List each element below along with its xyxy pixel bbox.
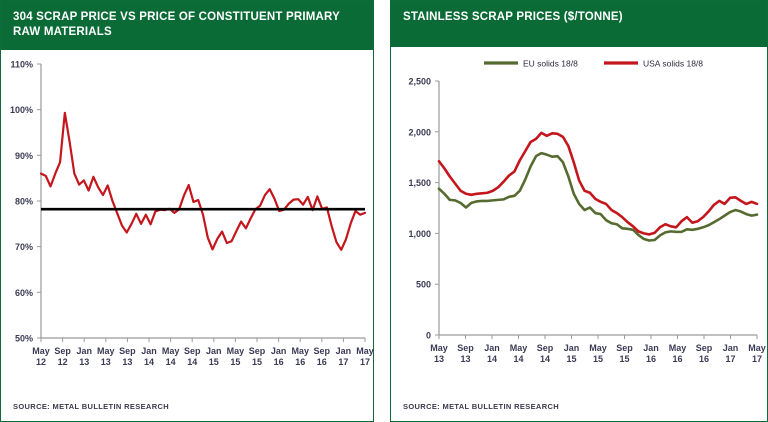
x-axis-tick-label-year: 17 xyxy=(360,357,370,367)
x-axis-tick-label-year: 14 xyxy=(513,354,523,364)
y-axis-tick-label: 2,000 xyxy=(408,127,431,137)
x-axis-tick-label-year: 15 xyxy=(619,354,629,364)
x-axis-tick-label-month: May xyxy=(589,343,607,353)
x-axis-tick-label-month: Sep xyxy=(184,346,201,356)
x-axis-tick-label-year: 17 xyxy=(725,354,735,364)
x-axis-tick-label-year: 13 xyxy=(122,357,132,367)
x-axis-tick-label-month: Jan xyxy=(76,346,92,356)
y-axis-tick-label: 1,500 xyxy=(408,178,431,188)
series-line-eu-solids-18-8 xyxy=(439,153,757,240)
x-axis-tick-label-month: Jan xyxy=(141,346,157,356)
x-axis-tick-label-year: 15 xyxy=(252,357,262,367)
chart-scrap-price-ratio: 50%60%70%80%90%100%110%May12Sep12Jan13Ma… xyxy=(1,50,373,390)
x-axis-tick-label-year: 16 xyxy=(274,357,284,367)
x-axis-tick-label-year: 14 xyxy=(540,354,550,364)
y-axis-tick-label: 90% xyxy=(15,151,33,161)
x-axis-tick-label-month: Sep xyxy=(249,346,266,356)
y-axis-tick-label: 70% xyxy=(15,242,33,252)
source-note-left: SOURCE: METAL BULLETIN RESEARCH xyxy=(1,402,373,421)
x-axis-tick-label-month: Jan xyxy=(643,343,659,353)
source-note-right: SOURCE: METAL BULLETIN RESEARCH xyxy=(391,402,767,421)
x-axis-tick-label-year: 16 xyxy=(672,354,682,364)
x-axis-tick-label-year: 13 xyxy=(79,357,89,367)
x-axis-tick-label-year: 13 xyxy=(434,354,444,364)
y-axis-tick-label: 80% xyxy=(15,197,33,207)
x-axis-tick-label-month: Sep xyxy=(696,343,713,353)
y-axis-tick-label: 2,500 xyxy=(408,77,431,87)
x-axis-tick-label-month: Jan xyxy=(206,346,222,356)
x-axis-tick-label-year: 16 xyxy=(317,357,327,367)
y-axis-tick-label: 50% xyxy=(15,334,33,344)
x-axis-tick-label-year: 13 xyxy=(460,354,470,364)
series-line-304-scrap-price-as-of-constituent-primary-raw-materials xyxy=(41,113,365,250)
x-axis-tick-label-year: 17 xyxy=(338,357,348,367)
x-axis-tick-label-year: 15 xyxy=(209,357,219,367)
x-axis-tick-label-month: May xyxy=(748,343,766,353)
plot-area-scrap-price-ratio: 50%60%70%80%90%100%110%May12Sep12Jan13Ma… xyxy=(1,50,373,402)
y-axis-tick-label: 0 xyxy=(426,331,431,341)
x-axis-tick-label-year: 15 xyxy=(230,357,240,367)
x-axis-tick-label-month: May xyxy=(291,346,309,356)
panel-title-stainless-scrap-prices: STAINLESS SCRAP PRICES ($/TONNE) xyxy=(391,1,767,47)
x-axis-tick-label-month: Sep xyxy=(616,343,633,353)
x-axis-tick-label-month: Sep xyxy=(537,343,554,353)
legend-item-eu-solids-18-8: EU solids 18/8 xyxy=(484,59,578,69)
y-axis-tick-label: 60% xyxy=(15,288,33,298)
x-axis-tick-label-month: Jan xyxy=(484,343,500,353)
y-axis-tick-label: 100% xyxy=(10,105,33,115)
x-axis-tick-label-month: Sep xyxy=(457,343,474,353)
panel-stainless-scrap-prices: STAINLESS SCRAP PRICES ($/TONNE) 05001,0… xyxy=(390,0,768,422)
charts-board: 304 SCRAP PRICE VS PRICE OF CONSTITUENT … xyxy=(0,0,768,422)
x-axis-tick-label-month: May xyxy=(510,343,528,353)
x-axis-tick-label-month: May xyxy=(162,346,180,356)
x-axis-tick-label-year: 14 xyxy=(487,354,497,364)
plot-area-stainless-scrap-prices: 05001,0001,5002,0002,500May13Sep13Jan14M… xyxy=(391,47,767,402)
x-axis-tick-label-month: Jan xyxy=(336,346,352,356)
x-axis-tick-label-month: Sep xyxy=(54,346,71,356)
x-axis-tick-label-year: 14 xyxy=(166,357,176,367)
legend-label: EU solids 18/8 xyxy=(523,59,578,69)
series-line-usa-solids-18-8 xyxy=(439,133,757,235)
x-axis-tick-label-month: May xyxy=(669,343,687,353)
x-axis-tick-label-month: May xyxy=(32,346,50,356)
panel-gap xyxy=(374,0,390,422)
y-axis-tick-label: 1,000 xyxy=(408,229,431,239)
panel-scrap-price-ratio: 304 SCRAP PRICE VS PRICE OF CONSTITUENT … xyxy=(0,0,374,422)
x-axis-tick-label-year: 15 xyxy=(566,354,576,364)
legend-label: USA solids 18/8 xyxy=(643,59,703,69)
x-axis-tick-label-month: May xyxy=(356,346,373,356)
x-axis-tick-label-year: 14 xyxy=(144,357,154,367)
x-axis-tick-label-month: Sep xyxy=(119,346,136,356)
x-axis-tick-label-month: Sep xyxy=(314,346,331,356)
y-axis-tick-label: 110% xyxy=(10,60,33,70)
x-axis-tick-label-year: 15 xyxy=(593,354,603,364)
legend-item-usa-solids-18-8: USA solids 18/8 xyxy=(604,59,703,69)
x-axis-tick-label-month: Jan xyxy=(564,343,580,353)
x-axis-tick-label-month: May xyxy=(430,343,448,353)
x-axis-tick-label-year: 12 xyxy=(36,357,46,367)
x-axis-tick-label-year: 17 xyxy=(752,354,762,364)
x-axis-tick-label-year: 14 xyxy=(187,357,197,367)
x-axis-tick-label-month: Jan xyxy=(723,343,739,353)
x-axis-tick-label-month: May xyxy=(97,346,115,356)
x-axis-tick-label-year: 12 xyxy=(58,357,68,367)
y-axis-tick-label: 500 xyxy=(416,280,431,290)
x-axis-tick-label-year: 16 xyxy=(646,354,656,364)
chart-stainless-scrap-prices: 05001,0001,5002,0002,500May13Sep13Jan14M… xyxy=(391,47,767,387)
x-axis-tick-label-year: 16 xyxy=(699,354,709,364)
x-axis-tick-label-month: May xyxy=(227,346,245,356)
x-axis-tick-label-year: 13 xyxy=(101,357,111,367)
x-axis-tick-label-month: Jan xyxy=(271,346,287,356)
panel-title-scrap-price-ratio: 304 SCRAP PRICE VS PRICE OF CONSTITUENT … xyxy=(1,1,373,50)
x-axis-tick-label-year: 16 xyxy=(295,357,305,367)
